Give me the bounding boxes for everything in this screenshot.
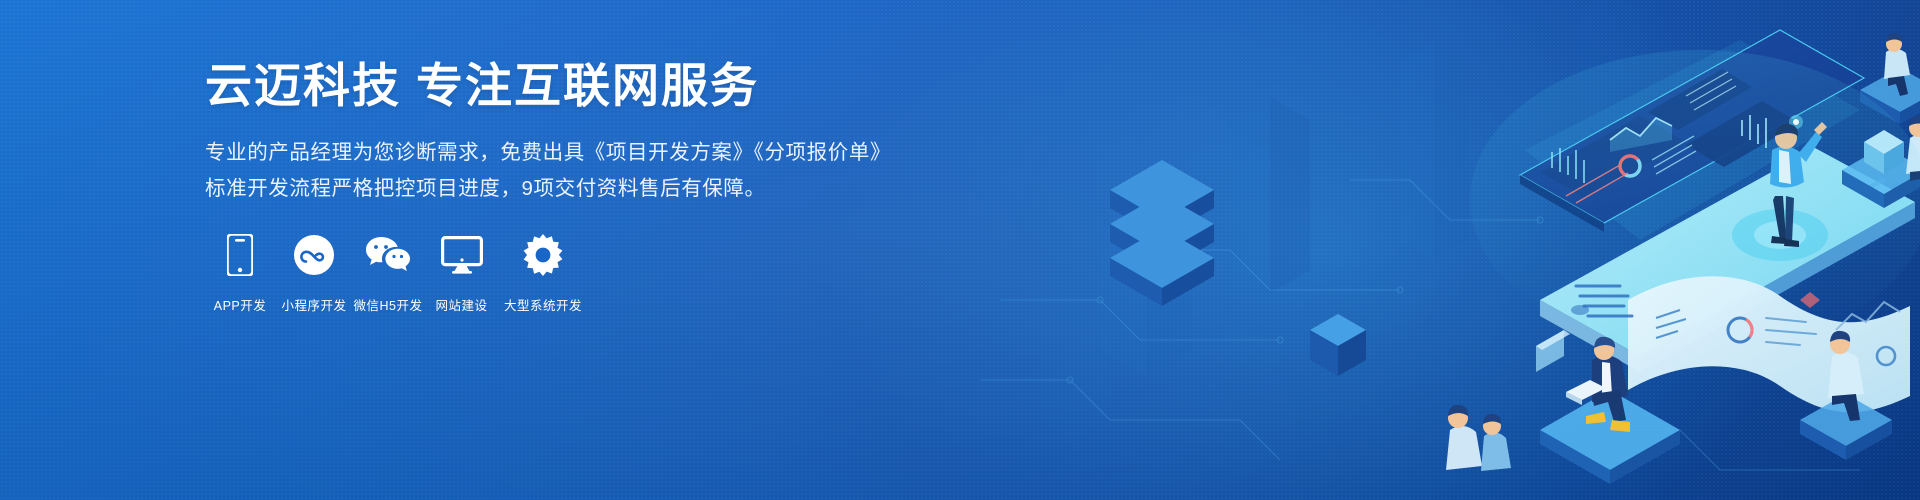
service-item-miniprogram[interactable]: 小程序开发 xyxy=(277,232,351,314)
service-item-app[interactable]: APP开发 xyxy=(203,232,277,314)
hero-banner: 云迈科技 专注互联网服务 专业的产品经理为您诊断需求，免费出具《项目开发方案》《… xyxy=(0,0,1920,500)
service-label: 小程序开发 xyxy=(281,295,346,314)
gear-icon xyxy=(522,232,564,278)
wechat-icon xyxy=(365,232,411,278)
banner-subtitle: 专业的产品经理为您诊断需求，免费出具《项目开发方案》《分项报价单》 标准开发流程… xyxy=(205,135,925,206)
service-item-website[interactable]: 网站建设 xyxy=(425,232,498,314)
page-title: 云迈科技 专注互联网服务 xyxy=(205,58,925,113)
floating-cube xyxy=(1310,314,1366,376)
server-stack-left xyxy=(1110,160,1214,306)
person-pair-lower-left xyxy=(1446,405,1511,471)
banner-text-block: 云迈科技 专注互联网服务 专业的产品经理为您诊断需求，免费出具《项目开发方案》《… xyxy=(205,58,925,206)
mobile-phone-icon xyxy=(227,232,253,278)
mini-program-icon xyxy=(293,232,335,278)
service-item-wechat-h5[interactable]: 微信H5开发 xyxy=(351,232,425,314)
subtitle-line-2: 标准开发流程严格把控项目进度，9项交付资料售后有保障。 xyxy=(205,171,925,206)
service-icon-row: APP开发 小程序开发 微信 xyxy=(203,232,588,314)
service-item-large-system[interactable]: 大型系统开发 xyxy=(498,232,588,314)
service-label: 网站建设 xyxy=(435,295,487,314)
service-label: APP开发 xyxy=(214,295,267,314)
isometric-tech-illustration xyxy=(980,0,1920,500)
subtitle-line-1: 专业的产品经理为您诊断需求，免费出具《项目开发方案》《分项报价单》 xyxy=(205,135,925,170)
service-label: 大型系统开发 xyxy=(504,295,582,314)
service-label: 微信H5开发 xyxy=(354,295,423,314)
floating-tag xyxy=(1536,330,1570,372)
monitor-icon xyxy=(441,232,483,278)
